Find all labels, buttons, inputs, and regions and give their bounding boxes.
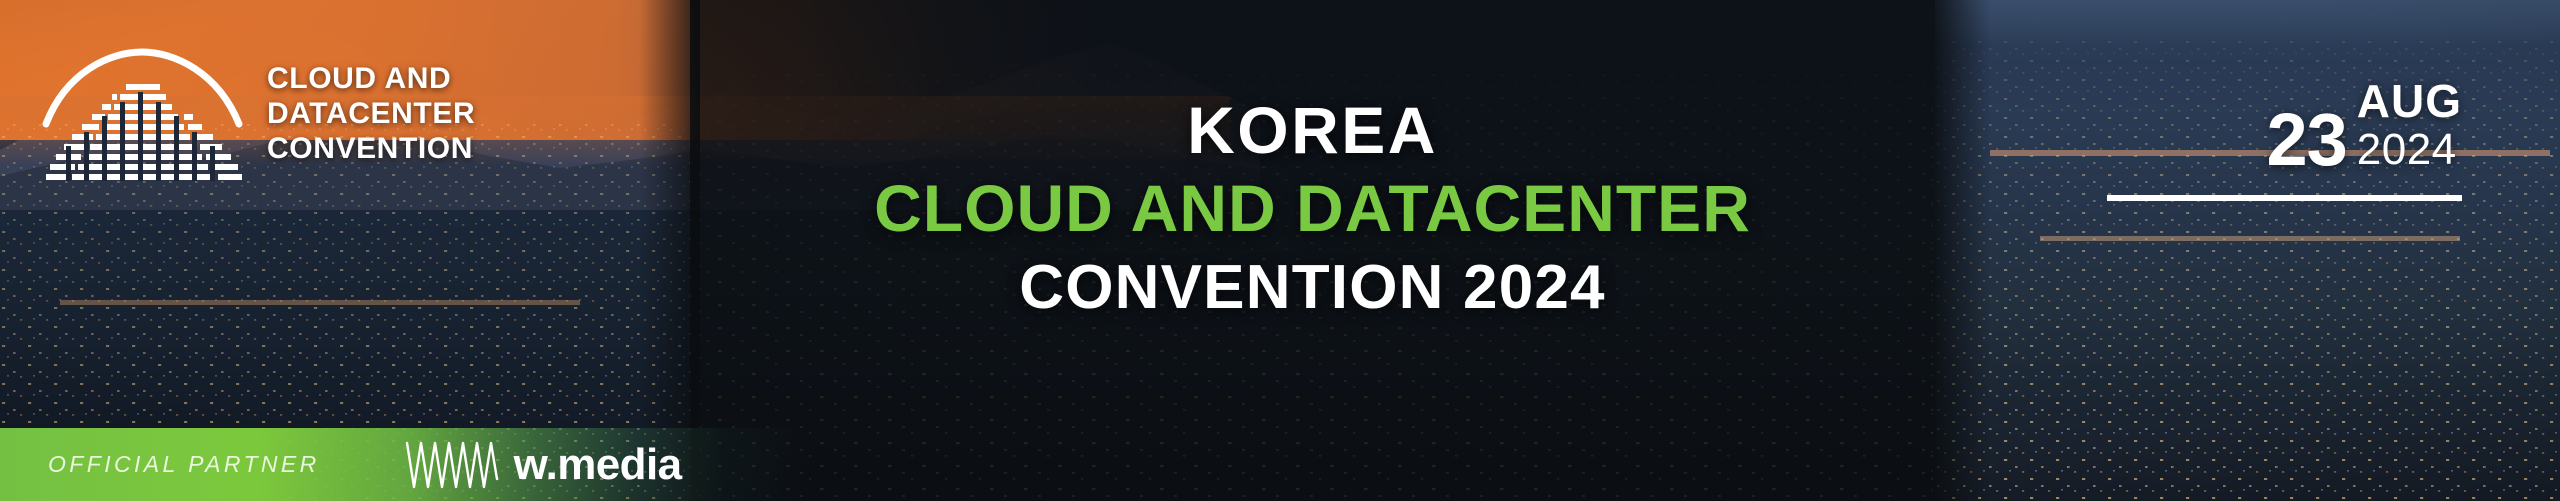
brand-logo-lockup[interactable]: CLOUD AND DATACENTER CONVENTION xyxy=(40,46,475,181)
wmedia-wordmark: w.media xyxy=(514,443,682,487)
date-day: 23 xyxy=(2266,78,2346,175)
headline-line-convention: CONVENTION 2024 xyxy=(690,250,1935,326)
headline-line-country: KOREA xyxy=(690,96,1935,166)
date-row: 23 AUG 2024 xyxy=(2107,78,2462,175)
event-date-block: 23 AUG 2024 xyxy=(2107,78,2462,201)
wmedia-logo[interactable]: w.media xyxy=(404,439,682,491)
date-underline-rule xyxy=(2107,195,2462,201)
date-year: 2024 xyxy=(2357,125,2462,174)
official-partner-bar: OFFICIAL PARTNER w.media xyxy=(0,428,860,501)
event-headline: KOREA CLOUD AND DATACENTER CONVENTION 20… xyxy=(690,96,1935,326)
cdc-building-arch-logo-icon xyxy=(40,46,245,181)
date-month-year: AUG 2024 xyxy=(2357,78,2462,174)
logo-line-2: DATACENTER xyxy=(267,96,475,131)
wmedia-wave-icon xyxy=(404,439,500,491)
logo-line-3: CONVENTION xyxy=(267,131,475,166)
event-banner: CLOUD AND DATACENTER CONVENTION KOREA CL… xyxy=(0,0,2560,501)
headline-line-subject: CLOUD AND DATACENTER xyxy=(690,166,1935,250)
date-month: AUG xyxy=(2357,78,2462,125)
official-partner-label: OFFICIAL PARTNER xyxy=(48,451,320,478)
logo-line-1: CLOUD AND xyxy=(267,61,475,96)
brand-logo-wordmark: CLOUD AND DATACENTER CONVENTION xyxy=(267,61,475,166)
